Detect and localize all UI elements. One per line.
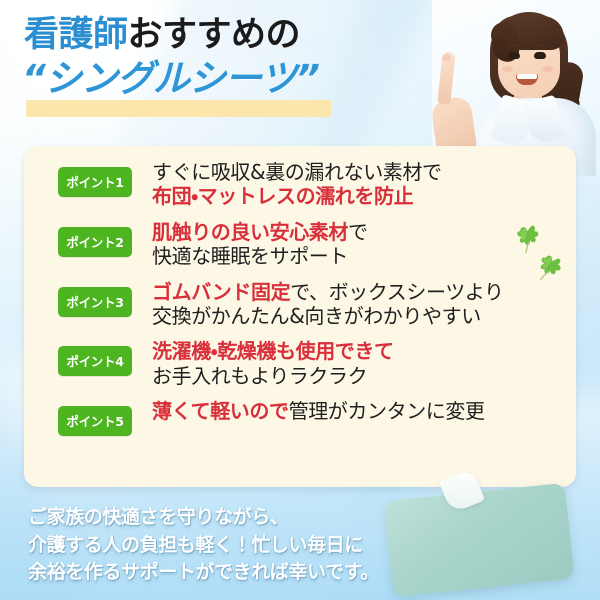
point-text-line: ゴムバンド固定で、ボックスシーツより [152,280,504,304]
point-text: ゴムバンド固定で、ボックスシーツより交換がかんたん&向きがわかりやすい [152,280,504,329]
point-badge-3: ポイント3 [58,287,132,317]
footer-line: 介護する人の負担も軽く！忙しい毎日に [28,532,428,560]
headline-rest-text: おすすめの [128,15,301,55]
point-text-line: 薄くて軽いので管理がカンタンに変更 [152,399,485,423]
point-text-line: 交換がかんたん&向きがわかりやすい [152,304,504,328]
point-plain-text: で [348,220,368,244]
point-emphasis-text: 洗濯機・乾燥機も使用できて [152,339,394,363]
point-plain-text: 交換がかんたん&向きがわかりやすい [152,304,481,328]
point-text-line: お手入れもよりラクラク [152,364,394,388]
point-text-line: 肌触りの良い安心素材で [152,220,368,244]
point-plain-text: 快適な睡眠をサポート [152,244,348,268]
point-text: 薄くて軽いので管理がカンタンに変更 [152,399,485,423]
point-emphasis-text: 薄くて軽いので [152,399,289,423]
point-badge-5: ポイント5 [58,406,132,436]
headline-accent-text: 看護師 [24,15,128,55]
headline-highlight-bar [26,100,331,117]
point-emphasis-text: ゴムバンド固定 [152,280,290,304]
point-text-line: 洗濯機・乾燥機も使用できて [152,339,394,363]
point-plain-text: 管理がカンタンに変更 [289,399,485,423]
footer-message: ご家族の快適さを守りながら、介護する人の負担も軽く！忙しい毎日に余裕を作るサポー… [28,504,428,587]
point-emphasis-text: 布団・マットレスの濡れを防止 [152,184,413,208]
point-badge-1: ポイント1 [58,167,132,197]
headline-line-1: 看護師おすすめの [24,18,300,53]
nurse-cheek-left [502,66,513,72]
points-panel: ポイント1すぐに吸収&裏の漏れない素材で布団・マットレスの濡れを防止ポイント2肌… [24,146,576,487]
point-plain-text: すぐに吸収&裏の漏れない素材で [152,160,442,184]
point-plain-text: で、ボックスシーツより [290,280,503,304]
nurse-eye-right [534,52,546,59]
point-text: 肌触りの良い安心素材で快適な睡眠をサポート [152,220,368,269]
nurse-fingernail [442,54,451,61]
point-badge-2: ポイント2 [58,227,132,257]
point-emphasis-text: 肌触りの良い安心素材 [152,220,348,244]
point-row: ポイント2肌触りの良い安心素材で快適な睡眠をサポート [58,220,566,269]
point-text-line: すぐに吸収&裏の漏れない素材で [152,160,442,184]
footer-line: 余裕を作るサポートができれば幸いです。 [28,559,428,587]
point-row: ポイント4洗濯機・乾燥機も使用できてお手入れもよりラクラク [58,339,566,388]
point-row: ポイント1すぐに吸収&裏の漏れない素材で布団・マットレスの濡れを防止 [58,160,566,209]
points-list: ポイント1すぐに吸収&裏の漏れない素材で布団・マットレスの濡れを防止ポイント2肌… [58,160,566,447]
point-text: すぐに吸収&裏の漏れない素材で布団・マットレスの濡れを防止 [152,160,442,209]
point-badge-4: ポイント4 [58,346,132,376]
point-row: ポイント3ゴムバンド固定で、ボックスシーツより交換がかんたん&向きがわかりやすい [58,280,566,329]
point-row: ポイント5薄くて軽いので管理がカンタンに変更 [58,399,566,436]
nurse-teeth [517,74,537,79]
nurse-eye-left [508,52,520,59]
point-plain-text: お手入れもよりラクラク [152,364,367,388]
point-text-line: 布団・マットレスの濡れを防止 [152,184,442,208]
nurse-cheek-right [542,66,553,72]
advertisement-banner: 看護師おすすめの “シングルシーツ” ポイント1すぐに吸収&裏の漏れない素材で布… [0,0,600,600]
footer-line: ご家族の快適さを守りながら、 [28,504,428,532]
point-text: 洗濯機・乾燥機も使用できてお手入れもよりラクラク [152,339,394,388]
point-text-line: 快適な睡眠をサポート [152,244,368,268]
headline-line-2: “シングルシーツ” [22,60,319,97]
